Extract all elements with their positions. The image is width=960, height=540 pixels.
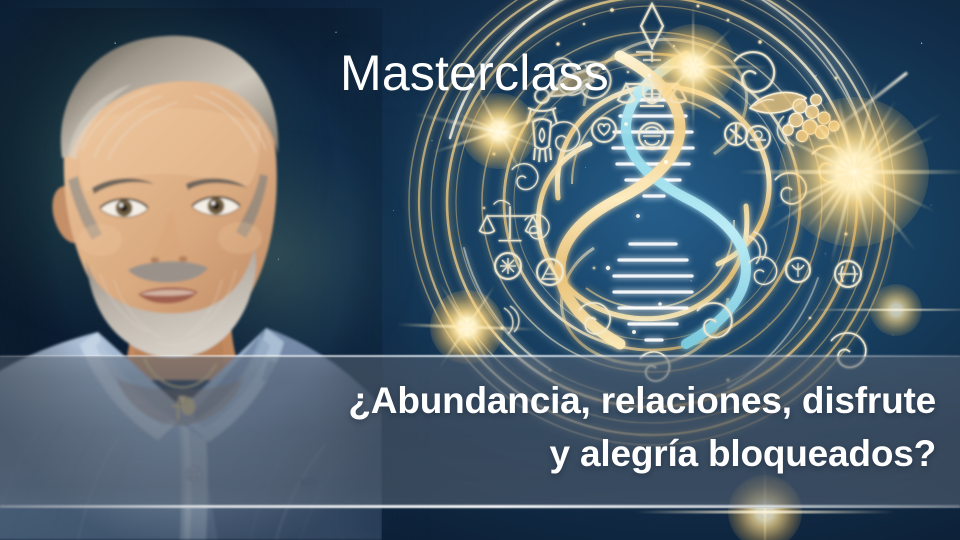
masterclass-eyebrow: Masterclass [340, 48, 609, 98]
caption-line-1: ¿Abundancia, relaciones, disfrute [0, 374, 936, 427]
caption-text: ¿Abundancia, relaciones, disfrute y aleg… [0, 374, 936, 481]
banner-canvas: MD Masterclass ¿Abundancia, relaciones, … [0, 0, 960, 540]
caption-line-2: y alegría bloqueados? [0, 427, 936, 480]
